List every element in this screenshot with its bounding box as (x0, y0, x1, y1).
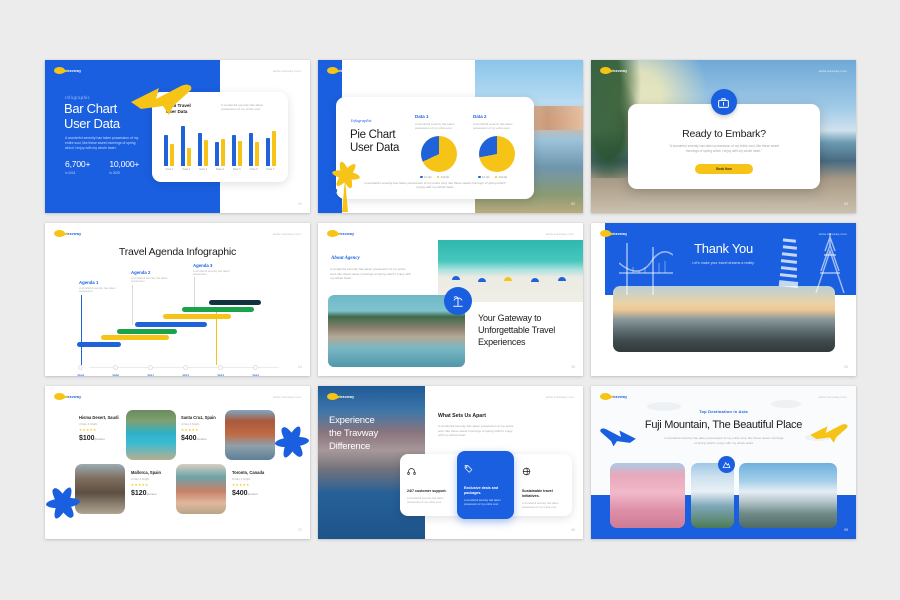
timeline-dot (253, 365, 258, 370)
site-url: www.travway.com (819, 69, 847, 73)
pie-caption: A wonderful serenity has taken possessio… (473, 122, 525, 130)
timeline-dot (218, 365, 223, 370)
connector-line (81, 295, 82, 365)
chart-caption: A wonderful serenity has taken possessio… (221, 103, 269, 111)
destination-card[interactable]: Toronto, Canada 5 Day 4 Night ★★★★★ $400… (232, 470, 264, 497)
site-url: www.travway.com (546, 395, 574, 399)
heading: Your Gateway to Unforgettable Travel Exp… (478, 312, 583, 348)
cta-card: Ready to Embark? "A wonderful serenity h… (628, 104, 820, 189)
cloud-decor (771, 400, 801, 408)
destination-nights: 5 Day 4 Night (232, 477, 264, 481)
bar-group (266, 131, 276, 166)
price-unit: /person (248, 492, 258, 496)
cherry-blossom-photo (610, 463, 685, 528)
agenda-label-3: Agenda 3 A wonderful serenity has taken … (193, 263, 233, 277)
destination-card[interactable]: Mallorca, Spain 2 Day 3 Night ★★★★★ $120… (131, 470, 161, 497)
page-number: 04 (298, 365, 302, 369)
paragraph: A wonderful serenity has taken possessio… (330, 267, 412, 281)
umbrella-icon (478, 278, 486, 282)
page-number: 08 (571, 528, 575, 532)
agenda-label-2: Agenda 2 A wonderful serenity has taken … (131, 270, 171, 284)
slide-pie-chart-user-data[interactable]: travway Infographic Pie Chart User Data … (318, 60, 583, 213)
gantt-bar (135, 322, 207, 327)
umbrella-icon (531, 278, 539, 282)
fuji-summit-photo (739, 463, 837, 528)
destination-rating: ★★★★★ (131, 483, 161, 487)
page-number: 01 (298, 202, 302, 206)
bar-x-label: Data 7 (265, 168, 276, 171)
page-number: 05 (571, 365, 575, 369)
slide-destinations[interactable]: travway www.travway.com Hisma Desert, Sa… (45, 386, 310, 539)
pie-title: Data 1 (415, 114, 481, 119)
timeline-dot (113, 365, 118, 370)
sunset-mountain-photo (613, 286, 835, 352)
bar (272, 131, 276, 166)
tag-icon (464, 464, 473, 473)
gantt-chart: Agenda 1 A wonderful serenity has taken … (69, 267, 287, 345)
legend-swatch (478, 176, 481, 179)
logo-bird-icon (54, 393, 65, 400)
legend-swatch (420, 176, 423, 179)
site-url: www.travway.com (273, 69, 301, 73)
pie-legend-1: 1st Qtr2nd Qtr (420, 176, 481, 179)
palm-beach-icon (444, 287, 472, 315)
slide-travel-agenda[interactable]: travway www.travway.com Travel Agenda In… (45, 223, 310, 376)
logo-text: travway (613, 232, 628, 236)
bar-chart-plot (164, 126, 276, 166)
page-title: Bar Chart User Data (64, 102, 120, 131)
page-number: 07 (298, 528, 302, 532)
script-eyebrow: Infographic (351, 118, 372, 123)
paragraph: "A wonderful serenity has taken possessi… (664, 144, 784, 154)
paragraph: A wonderful serenity has taken possessio… (663, 436, 785, 445)
logo: travway (54, 67, 81, 74)
logo-text: travway (613, 69, 628, 73)
slide-ready-to-embark[interactable]: travway www.travway.com Ready to Embark?… (591, 60, 856, 213)
page-number: 06 (844, 365, 848, 369)
logo-text: travway (67, 232, 82, 236)
feature-title: 24/7 customer support. (407, 489, 450, 494)
bar-x-label: Data 1 (164, 168, 175, 171)
destination-name: Hisma Desert, Saudi (79, 415, 119, 420)
section-text: A wonderful serenity has taken possessio… (438, 424, 516, 438)
legend-swatch (437, 176, 440, 179)
heading-line-3: Experiences (478, 336, 583, 348)
slide-your-gateway[interactable]: travway www.travway.com About Agency A w… (318, 223, 583, 376)
bar-chart-x-labels: Data 1Data 2Data 3Data 4Data 5Data 6Data… (164, 168, 276, 171)
gantt-bar (77, 342, 121, 347)
destination-rating: ★★★★★ (181, 428, 216, 432)
price-unit: /person (147, 492, 157, 496)
legend-swatch (495, 176, 498, 179)
destination-card[interactable]: Santa Cruz, Spain 4 Day 3 Night ★★★★★ $4… (181, 415, 216, 442)
heading: Experience the Travway Difference (329, 414, 417, 453)
suitcase-icon (711, 89, 737, 115)
leaning-tower-icon (776, 235, 804, 291)
logo-text: travway (67, 69, 82, 73)
bar (215, 142, 219, 166)
script-eyebrow: About Agency (331, 256, 360, 261)
pie-column-1: Data 1 A wonderful serenity has taken po… (415, 114, 481, 179)
bar (249, 133, 253, 166)
bar (198, 133, 202, 166)
slide-fuji-mountain[interactable]: travway www.travway.com Top Destination … (591, 386, 856, 539)
bar-x-label: Data 2 (181, 168, 192, 171)
logo-bird-icon (600, 393, 611, 400)
heading: Ready to Embark? (628, 128, 820, 140)
bar-group (232, 135, 242, 166)
pie-legend-2: 1st Qtr2nd Qtr (478, 176, 539, 179)
logo-text: travway (340, 69, 355, 73)
feature-card-sustainable[interactable]: Sustainable travel initiatives. A wonder… (515, 454, 572, 516)
site-url: www.travway.com (819, 232, 847, 236)
timeline-year: 2019 (77, 374, 84, 376)
headset-icon (407, 467, 416, 476)
page-number: 02 (571, 202, 575, 206)
logo: travway (600, 67, 627, 74)
stats-row: 6,700+ in 2024 10,000+ in 2025 (65, 159, 139, 175)
umbrella-icon (452, 276, 460, 280)
site-url: www.travway.com (546, 232, 574, 236)
agenda-title: Agenda 2 (131, 270, 171, 275)
bar-group (181, 126, 191, 166)
eiffel-tower-icon (813, 231, 847, 293)
body-text: A wonderful serenity has taken possessio… (65, 136, 139, 151)
title-line-2: User Data (64, 117, 120, 132)
destination-price: $120/person (131, 490, 161, 497)
feature-text: A wonderful serenity has taken possessio… (464, 499, 507, 507)
logo-text: travway (67, 395, 82, 399)
slide-grid: travway www.travway.com Infographic Bar … (45, 60, 855, 540)
price-value: $400 (232, 490, 248, 497)
logo: travway (327, 67, 354, 74)
bar-x-label: Data 6 (248, 168, 259, 171)
timeline-year: 2020 (112, 374, 119, 376)
pie-title: Data 2 (473, 114, 539, 119)
logo-text: travway (613, 395, 628, 399)
bar (170, 144, 174, 166)
bar-x-label: Data 5 (231, 168, 242, 171)
feature-title: Sustainable travel initiatives. (522, 489, 565, 499)
logo: travway (327, 393, 354, 400)
agenda-title: Agenda 1 (79, 280, 119, 285)
slide-thank-you[interactable]: travway www.travway.com Thank You Let's … (591, 223, 856, 376)
logo-bird-icon (327, 67, 338, 74)
site-url: www.travway.com (819, 395, 847, 399)
destination-photo-hisma (126, 410, 176, 460)
palm-leaf-decor-right (270, 416, 310, 474)
logo-text: travway (340, 232, 355, 236)
feature-text: A wonderful serenity has taken possessio… (407, 497, 450, 505)
title-line-1: Pie Chart (350, 129, 399, 142)
destination-card[interactable]: Hisma Desert, Saudi 3 Day 4 Night ★★★★★ … (79, 415, 119, 442)
logo: travway (54, 230, 81, 237)
logo: travway (54, 393, 81, 400)
airplane-icon-blue (597, 426, 637, 448)
price-unit: /person (95, 437, 105, 441)
timeline-dot (78, 365, 83, 370)
feature-card-deals[interactable]: Exclusive deals and packages. A wonderfu… (457, 451, 514, 519)
bar (232, 135, 236, 166)
stat-item: 10,000+ in 2025 (109, 159, 139, 175)
price-value: $120 (131, 490, 147, 497)
timeline-year: 2022 (182, 374, 189, 376)
heading-line-2: the Travway (329, 427, 417, 440)
page-title: Pie Chart User Data (350, 129, 399, 155)
destination-nights: 4 Day 3 Night (181, 422, 216, 426)
gantt-bar (209, 300, 261, 305)
heading-line-1: Experience (329, 414, 417, 427)
timeline-dot (148, 365, 153, 370)
destination-nights: 2 Day 3 Night (131, 477, 161, 481)
slide-travway-difference[interactable]: travway www.travway.com Experience the T… (318, 386, 583, 539)
destination-info: Hisma Desert, Saudi 3 Day 4 Night ★★★★★ … (79, 415, 119, 442)
umbrella-icon (504, 277, 512, 281)
legend-item: 2nd Qtr (495, 176, 508, 179)
bar-x-label: Data 4 (214, 168, 225, 171)
destination-price: $400/person (181, 435, 216, 442)
book-now-button[interactable]: Book Now (695, 164, 753, 174)
bar (181, 126, 185, 166)
agenda-text: A wonderful serenity has taken possessio… (79, 287, 119, 294)
legend-item: 2nd Qtr (437, 176, 450, 179)
bar (187, 148, 191, 166)
destination-name: Toronto, Canada (232, 470, 264, 475)
site-url: www.travway.com (273, 395, 301, 399)
destination-info: Mallorca, Spain 2 Day 3 Night ★★★★★ $120… (131, 470, 161, 497)
bar (164, 135, 168, 166)
airplane-icon (129, 82, 197, 116)
timeline-year: 2021 (147, 374, 154, 376)
feature-title: Exclusive deals and packages. (464, 486, 507, 496)
destination-info: Santa Cruz, Spain 4 Day 3 Night ★★★★★ $4… (181, 415, 216, 442)
heading-line-2: Unforgettable Travel (478, 324, 583, 336)
price-unit: /person (197, 437, 207, 441)
page-number: 09 (844, 528, 848, 532)
title-line-2: User Data (350, 142, 399, 155)
legend-item: 1st Qtr (420, 176, 432, 179)
slide-bar-chart-user-data[interactable]: travway www.travway.com Infographic Bar … (45, 60, 310, 213)
heading-line-1: Your Gateway to (478, 312, 583, 324)
title-line-1: Bar Chart (64, 102, 120, 117)
golden-gate-bridge-icon (619, 233, 673, 295)
logo-bird-icon (54, 67, 65, 74)
stat-number: 10,000+ (109, 159, 139, 169)
destination-rating: ★★★★★ (232, 483, 264, 487)
bar (266, 138, 270, 166)
heading-line-3: Difference (329, 440, 417, 453)
page-number: 03 (844, 202, 848, 206)
price-value: $400 (181, 435, 197, 442)
logo-bird-icon (327, 230, 338, 237)
logo-text: travway (340, 395, 355, 399)
destination-name: Santa Cruz, Spain (181, 415, 216, 420)
agenda-title: Agenda 3 (193, 263, 233, 268)
timeline-year: 2024 (252, 374, 259, 376)
destination-photo-santacruz (225, 410, 275, 460)
agenda-text: A wonderful serenity has taken possessio… (193, 270, 233, 277)
eyebrow: Top Destination in Asia (591, 409, 856, 414)
logo: travway (600, 393, 627, 400)
connector-line (132, 285, 133, 325)
stat-label: in 2024 (65, 171, 90, 175)
stat-number: 6,700+ (65, 159, 90, 169)
logo-bird-icon (327, 393, 338, 400)
bar-x-label: Data 3 (198, 168, 209, 171)
timeline-year: 2023 (217, 374, 224, 376)
pie-chart-1 (421, 136, 457, 172)
footer-quote: A wonderful serenity has taken possessio… (364, 181, 506, 190)
airplane-icon-yellow (809, 422, 851, 444)
leaf-globe-icon (522, 467, 531, 476)
pie-caption: A wonderful serenity has taken possessio… (415, 122, 467, 130)
stat-item: 6,700+ in 2024 (65, 159, 90, 175)
mountain-icon (718, 456, 735, 473)
bar-group (198, 133, 208, 166)
destination-nights: 3 Day 4 Night (79, 422, 119, 426)
connector-line (216, 311, 217, 365)
eyebrow: Infographic (65, 95, 90, 100)
feature-card-support[interactable]: 24/7 customer support. A wonderful seren… (400, 454, 457, 516)
price-value: $100 (79, 435, 95, 442)
pie-column-2: Data 2 A wonderful serenity has taken po… (473, 114, 539, 179)
stat-label: in 2025 (109, 171, 139, 175)
timeline-dot (183, 365, 188, 370)
logo: travway (600, 230, 627, 237)
destination-price: $100/person (79, 435, 119, 442)
logo-bird-icon (600, 67, 611, 74)
umbrella-icon (558, 277, 566, 281)
logo-bird-icon (54, 230, 65, 237)
site-url: www.travway.com (273, 232, 301, 236)
bar (204, 140, 208, 166)
connector-line (194, 277, 195, 311)
destination-name: Mallorca, Spain (131, 470, 161, 475)
feature-text: A wonderful serenity has taken possessio… (522, 502, 565, 510)
destination-photo-toronto (176, 464, 226, 514)
section-title: What Sets Us Apart (438, 413, 486, 419)
gantt-bar (163, 314, 231, 319)
palm-leaf-decor-left (45, 477, 87, 535)
logo-bird-icon (600, 230, 611, 237)
destination-rating: ★★★★★ (79, 428, 119, 432)
destination-price: $400/person (232, 490, 264, 497)
pie-chart-2 (479, 136, 515, 172)
agenda-label-1: Agenda 1 A wonderful serenity has taken … (79, 280, 119, 294)
bar-group (164, 135, 174, 166)
bar-group (215, 139, 225, 166)
gantt-bar (101, 335, 169, 340)
gantt-bar (117, 329, 177, 334)
logo: travway (327, 230, 354, 237)
bar-group (249, 133, 259, 166)
legend-item: 1st Qtr (478, 176, 490, 179)
gantt-bar (182, 307, 254, 312)
palm-tree-icon (320, 155, 372, 213)
bar (221, 139, 225, 166)
heading: Travel Agenda Infographic (45, 246, 310, 258)
features-wrapper: 24/7 customer support. A wonderful seren… (400, 454, 572, 516)
bar (238, 141, 242, 166)
agenda-text: A wonderful serenity has taken possessio… (131, 277, 171, 284)
destination-info: Toronto, Canada 5 Day 4 Night ★★★★★ $400… (232, 470, 264, 497)
bar (255, 142, 259, 166)
